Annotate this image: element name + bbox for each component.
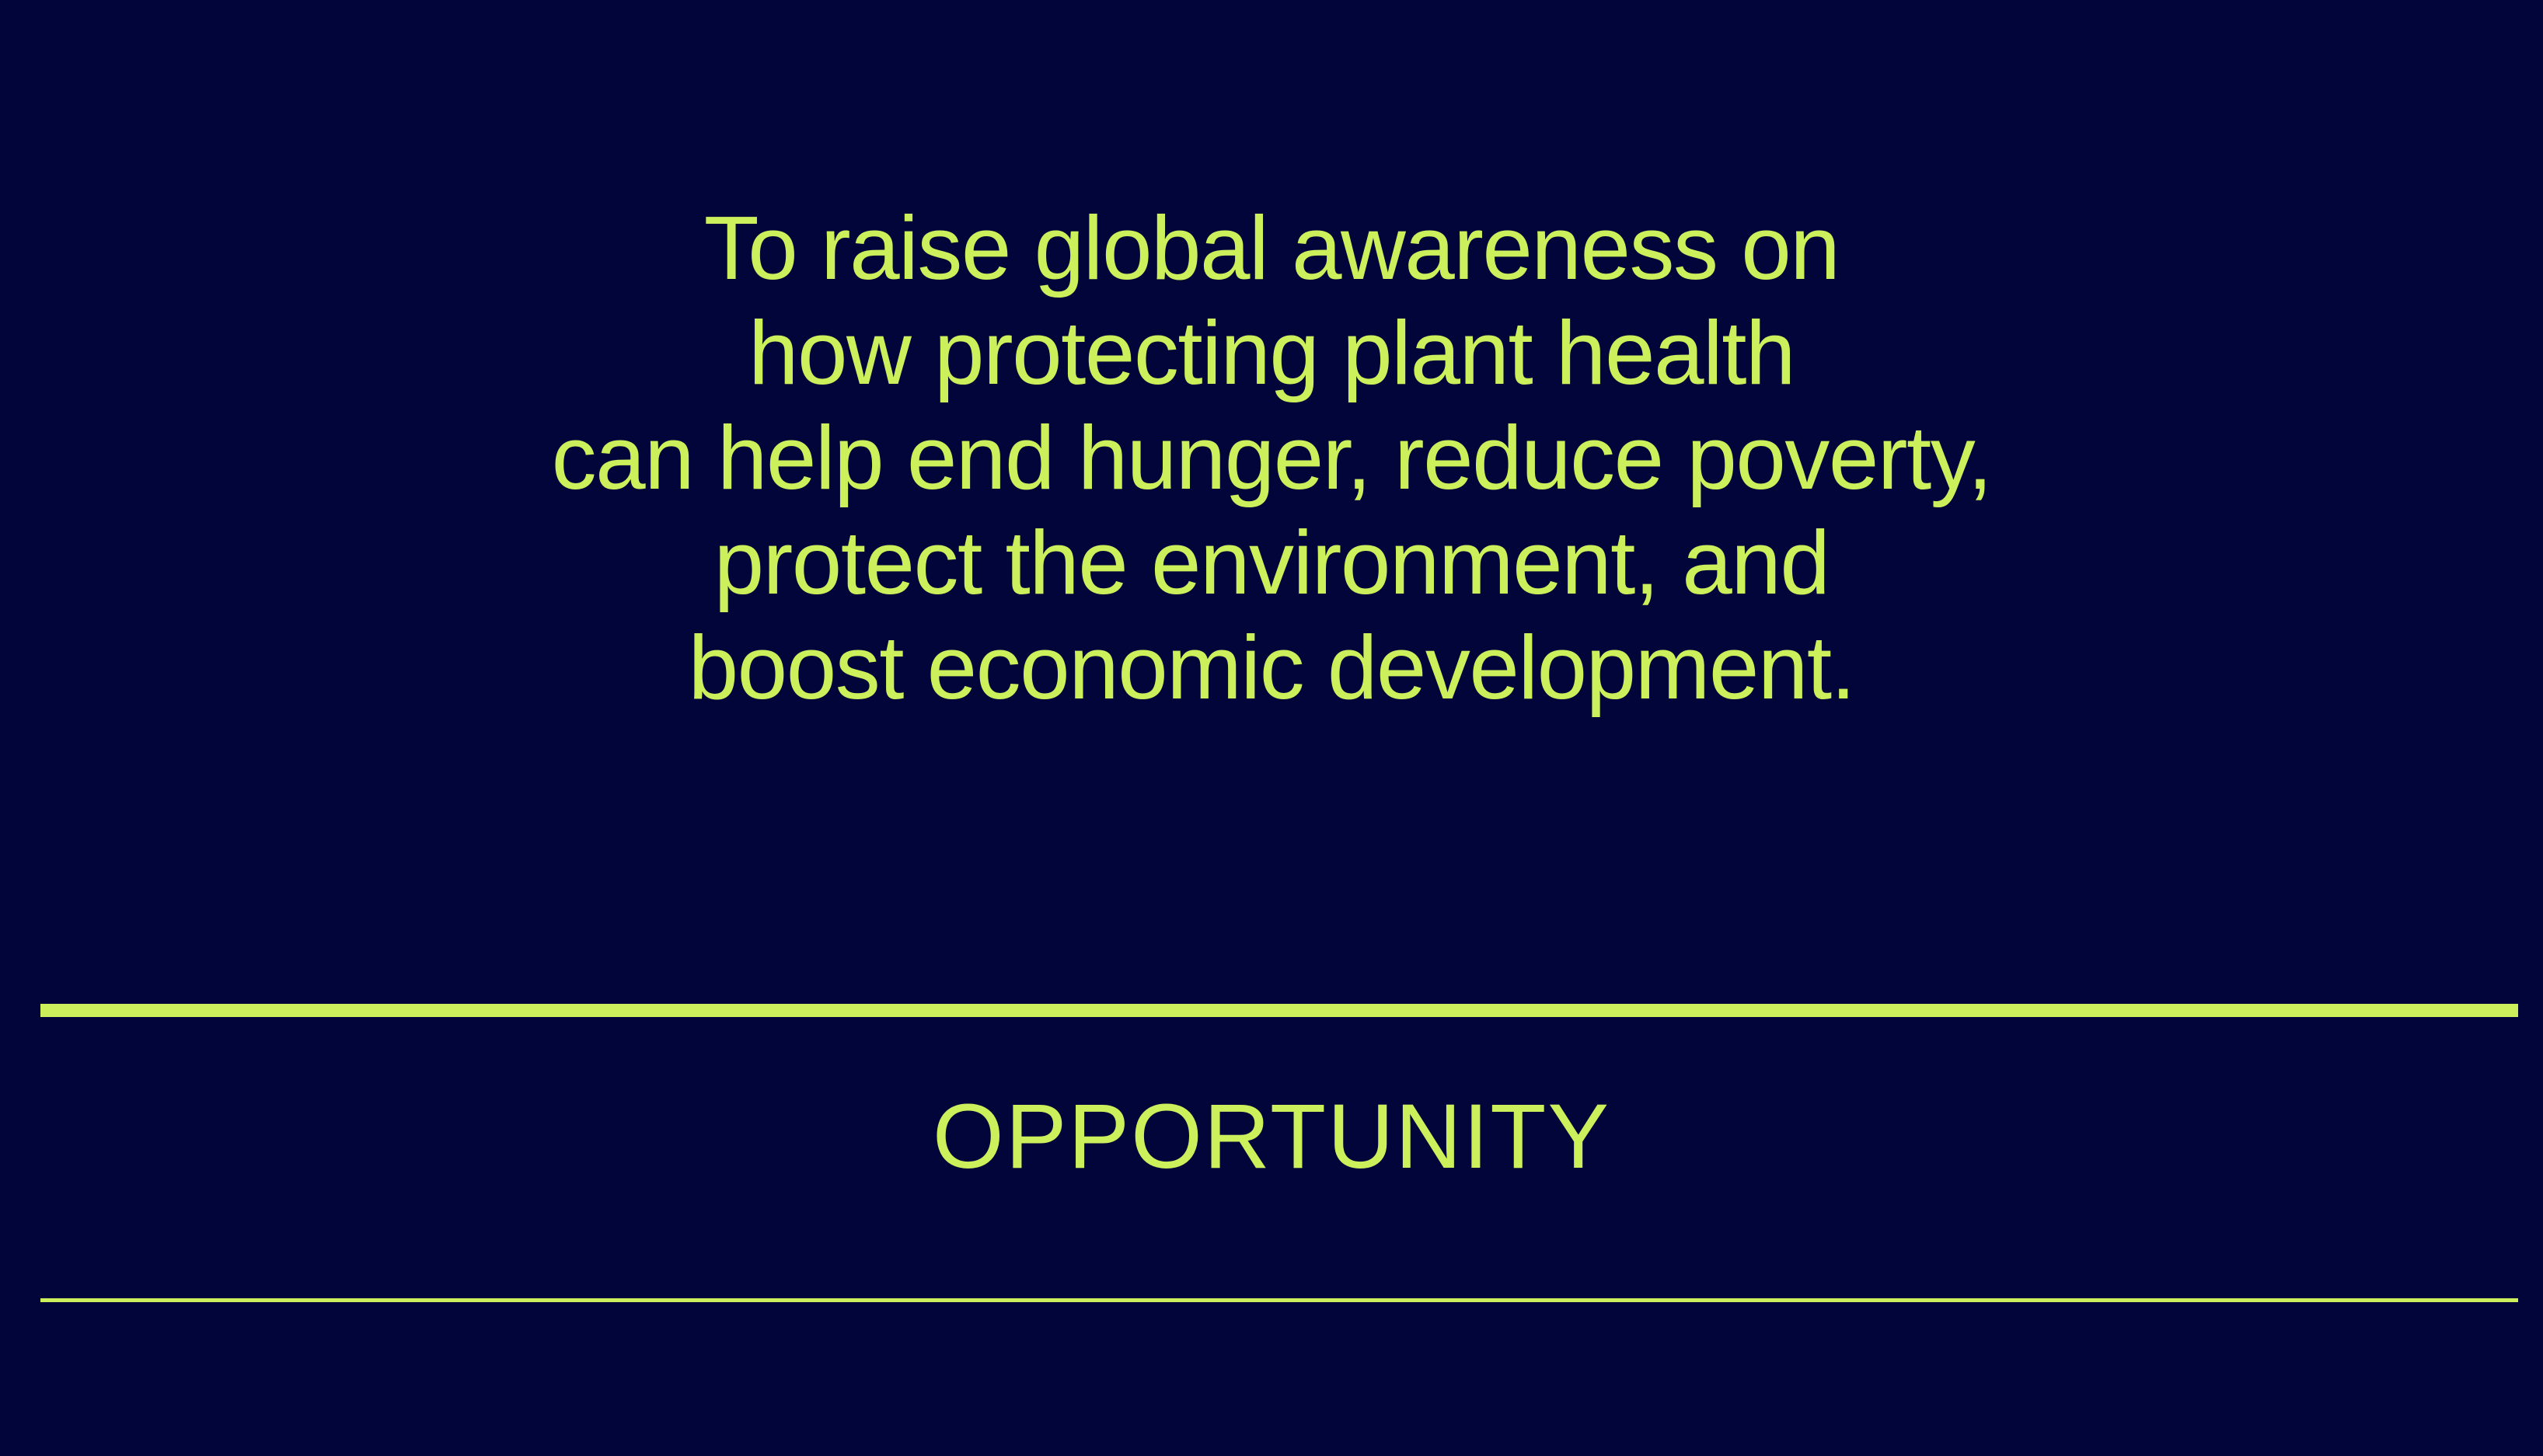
divider-rule-bottom xyxy=(40,1298,2518,1302)
section-title: OPPORTUNITY xyxy=(0,1086,2543,1187)
statement-line-3: can help end hunger, reduce poverty, xyxy=(0,406,2543,510)
statement-line-1: To raise global awareness on xyxy=(0,196,2543,301)
slide-canvas: To raise global awareness on how protect… xyxy=(0,0,2543,1456)
statement-line-4: protect the environment, and xyxy=(0,510,2543,615)
statement-line-5: boost economic development. xyxy=(0,615,2543,720)
statement-line-2: how protecting plant health xyxy=(0,301,2543,406)
mission-statement: To raise global awareness on how protect… xyxy=(0,196,2543,720)
divider-rule-top xyxy=(40,1004,2518,1017)
